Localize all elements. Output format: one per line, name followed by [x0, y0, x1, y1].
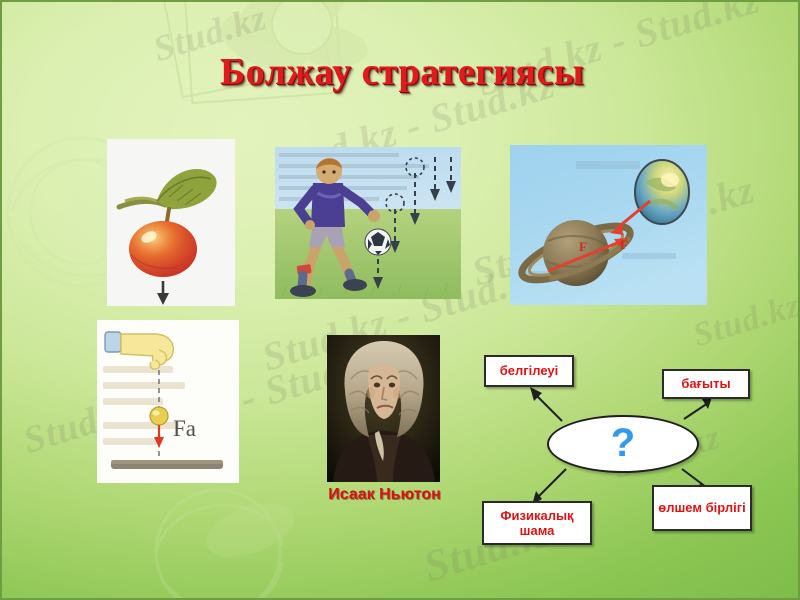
isaac-newton-portrait	[327, 335, 440, 482]
concept-map: белгілеуі бағыты Физикалық шама өлшем бі…	[462, 347, 797, 562]
newton-caption: Исаак Ньютон	[307, 486, 462, 504]
falling-apple-image	[107, 139, 235, 306]
presentation-slide: Stud.kz Stud.kz - Stud.kz Stud.kz - Stud…	[0, 0, 800, 600]
free-fall-hand-image: Fa	[97, 320, 239, 483]
svg-text:Fa: Fa	[173, 416, 196, 441]
svg-text:F: F	[620, 237, 628, 252]
concept-node-center[interactable]: ?	[547, 415, 699, 473]
slide-title: Болжау стратегиясы	[2, 50, 800, 94]
concept-node-fizikalyq-shama[interactable]: Физикалық шама	[482, 501, 592, 545]
concept-node-belgileui[interactable]: белгілеуі	[484, 355, 574, 387]
concept-node-bagyty[interactable]: бағыты	[662, 369, 750, 399]
football-kick-image	[275, 147, 461, 299]
svg-text:F: F	[579, 239, 587, 254]
planets-gravity-image: F F	[510, 145, 707, 305]
concept-node-olshem-birligi[interactable]: өлшем бірлігі	[652, 485, 752, 531]
question-mark-label: ?	[611, 423, 635, 463]
